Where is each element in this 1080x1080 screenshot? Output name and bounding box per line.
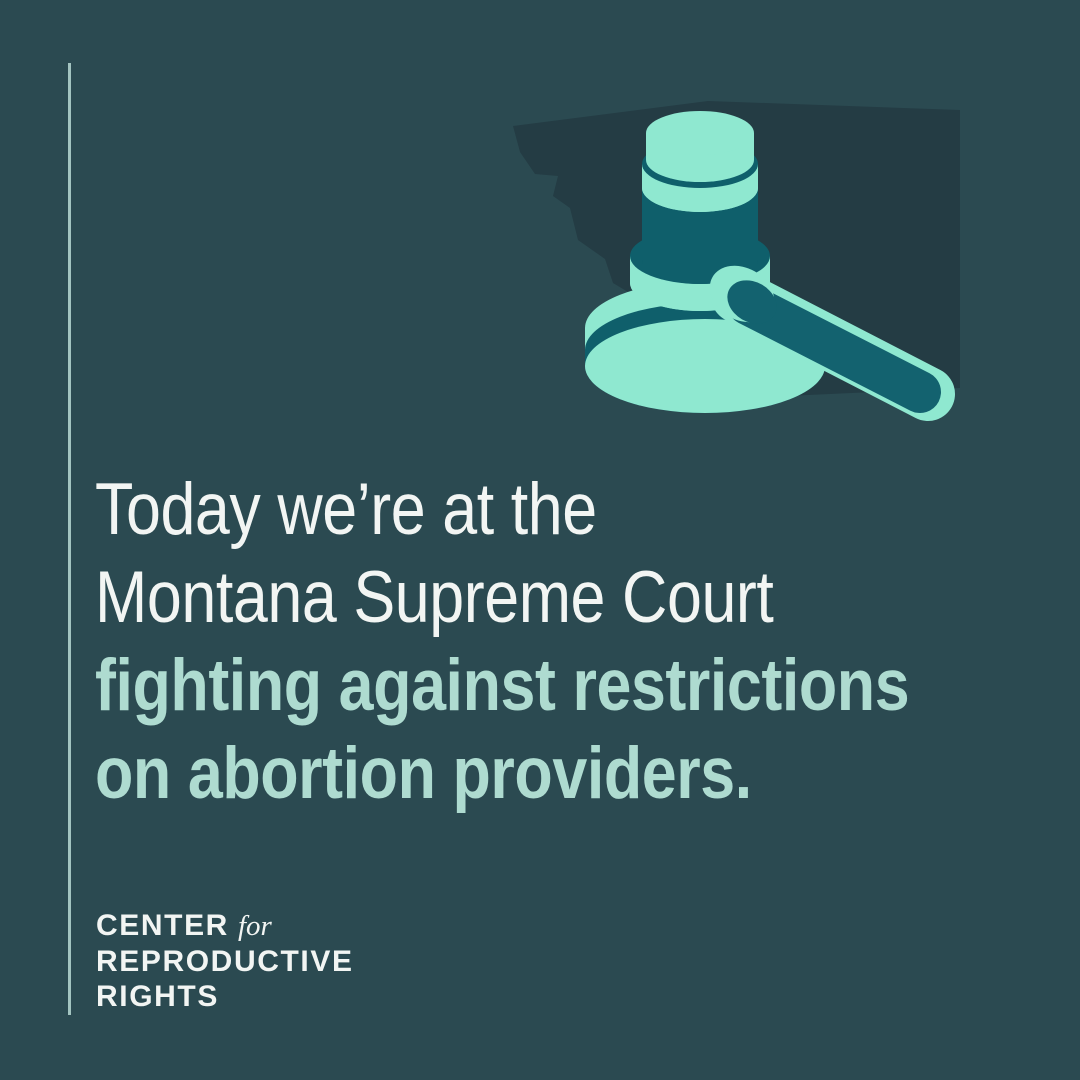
social-graphic-canvas: Today we’re at the Montana Supreme Court…: [0, 0, 1080, 1080]
logo-line-2: REPRODUCTIVE: [96, 944, 354, 979]
logo-line-3: RIGHTS: [96, 979, 354, 1014]
headline-line-3: fighting against restrictions: [95, 642, 903, 730]
headline-line-1: Today we’re at the: [95, 466, 903, 554]
gavel-montana-illustration: [480, 88, 1000, 428]
headline-block: Today we’re at the Montana Supreme Court…: [95, 466, 1035, 818]
logo-line-1: CENTERfor: [96, 908, 354, 944]
logo-word-center: CENTER: [96, 909, 229, 942]
left-vertical-rule: [68, 63, 71, 1015]
center-for-reproductive-rights-logo: CENTERfor REPRODUCTIVE RIGHTS: [96, 908, 354, 1014]
logo-word-for: for: [238, 910, 272, 942]
headline-line-4: on abortion providers.: [95, 730, 903, 818]
headline-line-2: Montana Supreme Court: [95, 554, 903, 642]
